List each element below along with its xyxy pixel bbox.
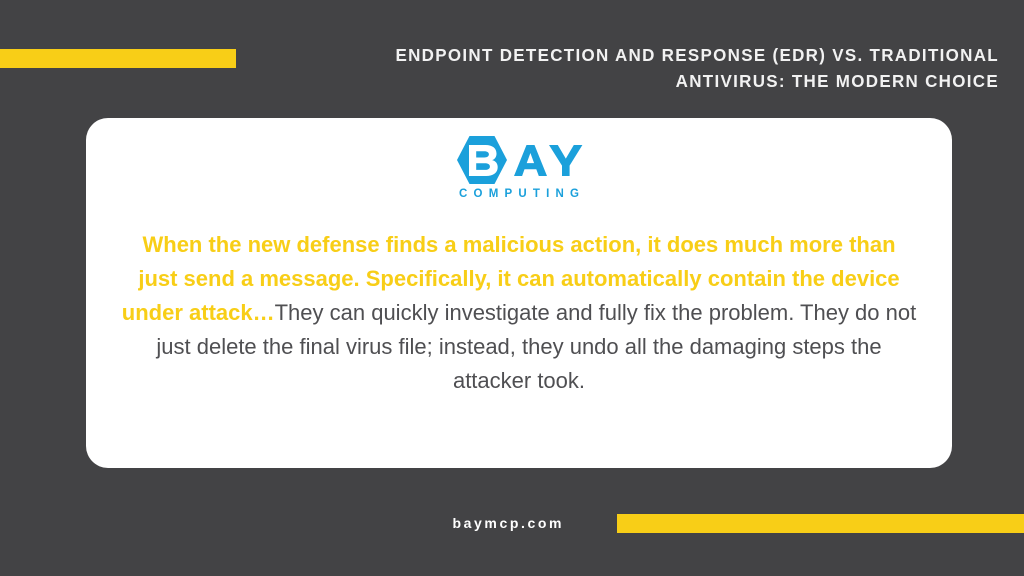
logo-wordmark <box>453 134 585 186</box>
logo-subtitle: COMPUTING <box>453 187 585 201</box>
accent-bar-top-left <box>0 49 236 68</box>
letter-b-glyph <box>469 145 498 176</box>
card-body-text: When the new defense finds a malicious a… <box>120 228 918 398</box>
content-card: COMPUTING When the new defense finds a m… <box>86 118 952 468</box>
bay-computing-logo: COMPUTING <box>86 134 952 212</box>
letter-y-glyph <box>549 145 582 176</box>
header-title: ENDPOINT DETECTION AND RESPONSE (EDR) VS… <box>320 42 999 94</box>
letter-a-glyph <box>514 145 547 176</box>
bay-logo-icon <box>453 134 585 186</box>
accent-bar-footer-right <box>617 514 1024 533</box>
header-title-line-2: ANTIVIRUS: THE MODERN CHOICE <box>320 68 999 94</box>
header-title-line-1: ENDPOINT DETECTION AND RESPONSE (EDR) VS… <box>320 42 999 68</box>
